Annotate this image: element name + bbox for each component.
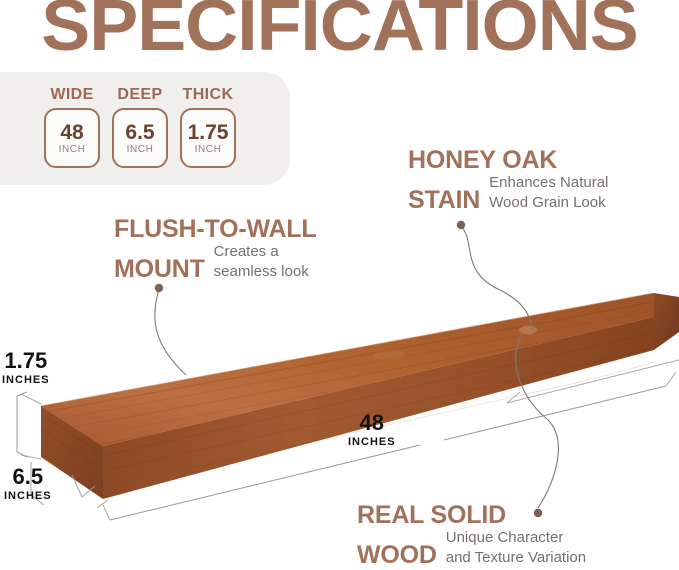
callout-real-sub-line1: Unique Character (446, 529, 586, 549)
callout-honey-oak-sub-line2: Wood Grain Look (489, 194, 608, 214)
dot-honey-oak (457, 221, 465, 229)
callout-honey-oak-head-line2: STAIN (408, 187, 480, 214)
callout-honey-oak-sub-line1: Enhances Natural (489, 174, 608, 194)
callout-real-sub-line2: and Texture Variation (446, 549, 586, 569)
dimension-value-thickness: 1.75 (2, 350, 50, 372)
callout-honey-oak-stain: HONEY OAK STAIN Enhances Natural Wood Gr… (408, 147, 608, 214)
shelf-right-end-face (654, 293, 679, 350)
dimension-value-depth: 6.5 (4, 466, 52, 488)
callout-flush-sub-line2: seamless look (214, 263, 309, 283)
dimension-unit-length: INCHES (348, 436, 396, 448)
dimension-value-length: 48 (348, 412, 396, 434)
dimension-label-length: 48 INCHES (348, 412, 396, 448)
leader-honey-oak (461, 226, 533, 330)
callout-real-solid-wood: REAL SOLID WOOD Unique Character and Tex… (357, 502, 586, 569)
callout-real-head-line2: WOOD (357, 542, 437, 569)
dimension-unit-depth: INCHES (4, 490, 52, 502)
callout-flush-head-line1: FLUSH-TO-WALL (114, 216, 316, 243)
dimension-label-thickness: 1.75 INCHES (2, 350, 50, 386)
dimension-label-depth: 6.5 INCHES (4, 466, 52, 502)
callout-flush-sub-line1: Creates a (214, 243, 309, 263)
callout-honey-oak-head-line1: HONEY OAK (408, 147, 608, 174)
leader-flush-to-wall (155, 289, 186, 375)
callout-real-head-line1: REAL SOLID (357, 502, 586, 529)
specifications-infographic: SPECIFICATIONS WIDE 48 INCH DEEP 6.5 INC… (0, 0, 679, 570)
callout-flush-to-wall-mount: FLUSH-TO-WALL MOUNT Creates a seamless l… (114, 216, 316, 283)
dot-flush-to-wall (155, 284, 163, 292)
dimension-unit-thickness: INCHES (2, 374, 50, 386)
shelf-illustration (0, 0, 679, 570)
callout-flush-head-line2: MOUNT (114, 256, 205, 283)
